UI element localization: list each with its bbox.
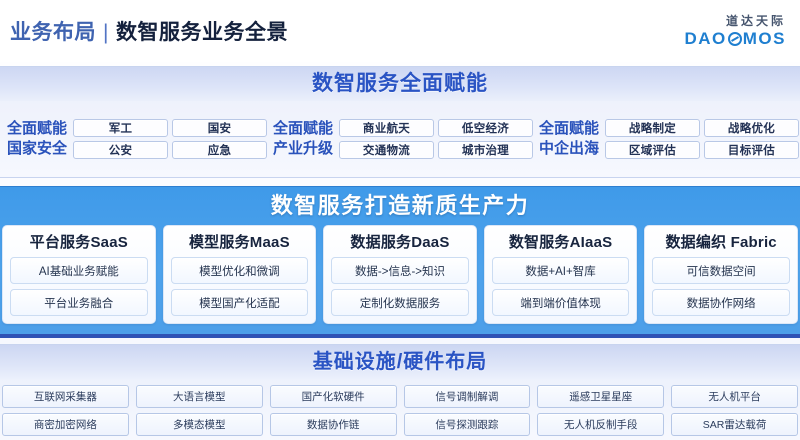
enablement-chip[interactable]: 低空经济 [438,119,533,137]
page-title: 业务布局 | 数智服务业务全景 [10,16,288,46]
enablement-chip[interactable]: 交通物流 [339,141,434,159]
infrastructure-item[interactable]: 多模态模型 [136,413,263,436]
page-title-lead: 业务布局 [10,16,96,46]
enablement-group-going-global: 全面赋能 中企出海 战略制定 战略优化 区域评估 目标评估 [533,107,799,170]
enablement-group-label-line2: 产业升级 [273,139,333,158]
enablement-group-label: 全面赋能 产业升级 [267,119,339,157]
service-item[interactable]: 定制化数据服务 [331,289,469,316]
section-infrastructure-grid: 互联网采集器 大语言模型 国产化软硬件 信号调制解调 遥感卫星星座 无人机平台 … [0,379,800,440]
section-infrastructure: 基础设施/硬件布局 互联网采集器 大语言模型 国产化软硬件 信号调制解调 遥感卫… [0,344,800,440]
section-enablement-title: 数智服务全面赋能 [0,67,800,101]
service-item[interactable]: 模型优化和微调 [171,257,309,284]
infrastructure-item[interactable]: 国产化软硬件 [270,385,397,408]
service-column-items: 数据->信息->知识 定制化数据服务 [331,257,469,316]
service-item[interactable]: 平台业务融合 [10,289,148,316]
infrastructure-item[interactable]: 互联网采集器 [2,385,129,408]
enablement-chip[interactable]: 区域评估 [605,141,700,159]
enablement-group-label-line1: 全面赋能 [7,119,67,138]
enablement-group-items: 商业航天 低空经济 交通物流 城市治理 [339,119,533,159]
section-infrastructure-title: 基础设施/硬件布局 [0,345,800,379]
brand-logo-en-right: MOS [743,30,786,47]
enablement-group-national-security: 全面赋能 国家安全 军工 国安 公安 应急 [1,107,267,170]
service-column-saas[interactable]: 平台服务SaaS AI基础业务赋能 平台业务融合 [2,225,156,324]
service-column-title: 平台服务SaaS [10,231,148,252]
service-item[interactable]: 可信数据空间 [652,257,790,284]
service-column-items: 可信数据空间 数据协作网络 [652,257,790,316]
section-productivity: 数智服务打造新质生产力 平台服务SaaS AI基础业务赋能 平台业务融合 模型服… [0,186,800,338]
section-productivity-body: 平台服务SaaS AI基础业务赋能 平台业务融合 模型服务MaaS 模型优化和微… [0,225,800,331]
enablement-chip[interactable]: 应急 [172,141,267,159]
service-item[interactable]: AI基础业务赋能 [10,257,148,284]
enablement-group-industry-upgrade: 全面赋能 产业升级 商业航天 低空经济 交通物流 城市治理 [267,107,533,170]
service-column-items: AI基础业务赋能 平台业务融合 [10,257,148,316]
enablement-chip[interactable]: 商业航天 [339,119,434,137]
service-column-items: 数据+AI+智库 端到端价值体现 [492,257,630,316]
service-column-title: 模型服务MaaS [171,231,309,252]
infrastructure-item[interactable]: SAR雷达载荷 [671,413,798,436]
service-column-title: 数据服务DaaS [331,231,469,252]
enablement-chip[interactable]: 战略优化 [704,119,799,137]
brand-logo-en-left: DAO [684,30,726,47]
section-enablement: 数智服务全面赋能 全面赋能 国家安全 军工 国安 公安 应急 全面赋能 产业升级 [0,66,800,178]
page-title-main: 数智服务业务全景 [116,16,288,46]
section-enablement-body: 全面赋能 国家安全 军工 国安 公安 应急 全面赋能 产业升级 商业航天 低空经… [0,101,800,177]
enablement-group-label: 全面赋能 国家安全 [1,119,73,157]
service-column-aiaas[interactable]: 数智服务AIaaS 数据+AI+智库 端到端价值体现 [484,225,638,324]
service-item[interactable]: 数据协作网络 [652,289,790,316]
page-title-divider: | [103,21,109,45]
service-column-title: 数智服务AIaaS [492,231,630,252]
brand-logo: 道达天际 DAO MOS [684,15,786,47]
enablement-group-label: 全面赋能 中企出海 [533,119,605,157]
enablement-group-items: 军工 国安 公安 应急 [73,119,267,159]
service-item[interactable]: 数据->信息->知识 [331,257,469,284]
enablement-chip[interactable]: 战略制定 [605,119,700,137]
service-column-fabric[interactable]: 数据编织 Fabric 可信数据空间 数据协作网络 [644,225,798,324]
enablement-group-items: 战略制定 战略优化 区域评估 目标评估 [605,119,799,159]
service-column-items: 模型优化和微调 模型国产化适配 [171,257,309,316]
service-column-daas[interactable]: 数据服务DaaS 数据->信息->知识 定制化数据服务 [323,225,477,324]
enablement-group-label-line1: 全面赋能 [273,119,333,138]
infrastructure-item[interactable]: 遥感卫星星座 [537,385,664,408]
infrastructure-item[interactable]: 信号调制解调 [404,385,531,408]
enablement-group-label-line2: 中企出海 [539,139,599,158]
service-column-maas[interactable]: 模型服务MaaS 模型优化和微调 模型国产化适配 [163,225,317,324]
globe-icon [728,32,742,46]
infrastructure-item[interactable]: 无人机平台 [671,385,798,408]
enablement-group-label-line2: 国家安全 [7,139,67,158]
brand-logo-cn: 道达天际 [726,15,786,27]
service-item[interactable]: 模型国产化适配 [171,289,309,316]
enablement-chip[interactable]: 城市治理 [438,141,533,159]
enablement-chip[interactable]: 公安 [73,141,168,159]
enablement-group-label-line1: 全面赋能 [539,119,599,138]
section-productivity-title: 数智服务打造新质生产力 [0,187,800,225]
enablement-chip[interactable]: 国安 [172,119,267,137]
infrastructure-item[interactable]: 大语言模型 [136,385,263,408]
service-item[interactable]: 数据+AI+智库 [492,257,630,284]
enablement-chip[interactable]: 目标评估 [704,141,799,159]
brand-logo-en: DAO MOS [684,30,786,47]
service-item[interactable]: 端到端价值体现 [492,289,630,316]
enablement-chip[interactable]: 军工 [73,119,168,137]
service-column-title: 数据编织 Fabric [652,231,790,252]
infrastructure-item[interactable]: 数据协作链 [270,413,397,436]
infrastructure-item[interactable]: 商密加密网络 [2,413,129,436]
infrastructure-item[interactable]: 无人机反制手段 [537,413,664,436]
page-root: 业务布局 | 数智服务业务全景 道达天际 DAO MOS 数智服务全面赋能 全面… [0,0,800,440]
page-header: 业务布局 | 数智服务业务全景 道达天际 DAO MOS [0,0,800,62]
infrastructure-item[interactable]: 信号探测跟踪 [404,413,531,436]
